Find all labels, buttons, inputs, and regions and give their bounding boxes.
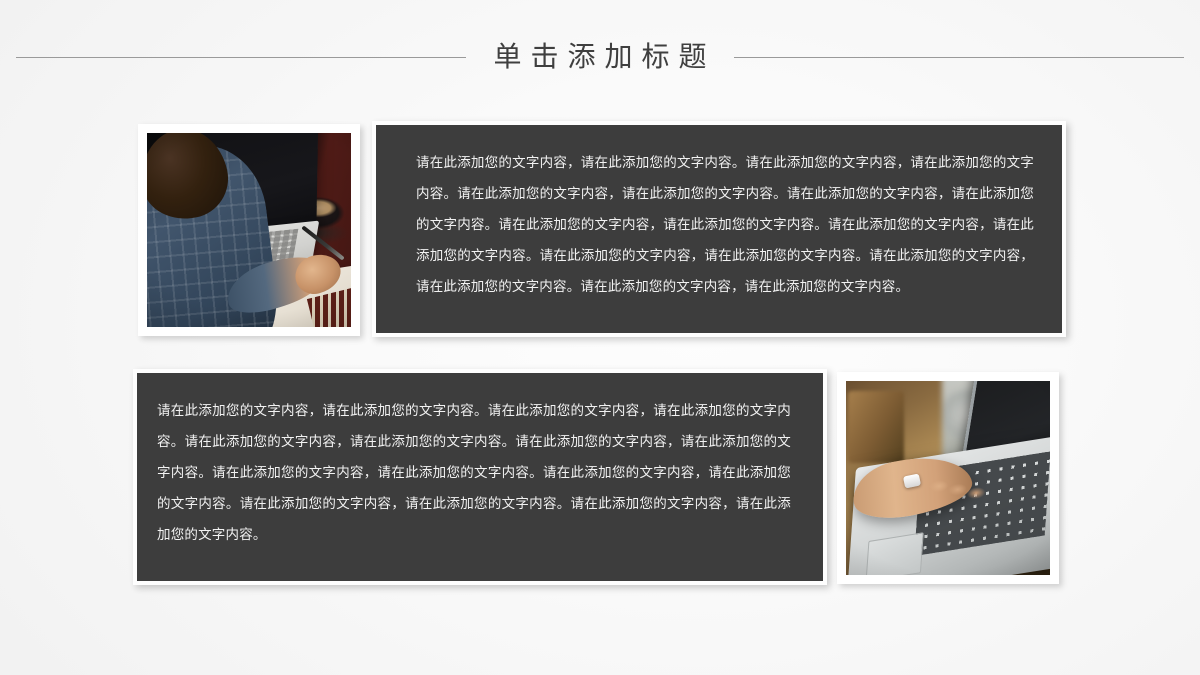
photo-vignette <box>846 381 1050 575</box>
photo-frame-top[interactable] <box>138 124 360 336</box>
page-title[interactable]: 单击添加标题 <box>484 37 715 77</box>
image-hands-typing-on-laptop-keyboard <box>846 381 1050 575</box>
text-panel-bottom-body[interactable]: 请在此添加您的文字内容，请在此添加您的文字内容。请在此添加您的文字内容，请在此添… <box>137 373 823 550</box>
slide-title-bar: 单击添加标题 <box>0 34 1200 80</box>
text-panel-bottom[interactable]: 请在此添加您的文字内容，请在此添加您的文字内容。请在此添加您的文字内容，请在此添… <box>133 369 827 585</box>
image-man-writing-notebook-laptop-coffee <box>147 133 351 327</box>
photo-frame-bottom[interactable] <box>837 372 1059 584</box>
slide-canvas: 单击添加标题 请在此添加您的文字内容，请在此添加您的文字内容。请在此添加您的文字… <box>0 0 1200 675</box>
title-rule-right-icon <box>734 57 1184 58</box>
text-panel-top[interactable]: 请在此添加您的文字内容，请在此添加您的文字内容。请在此添加您的文字内容，请在此添… <box>372 121 1066 337</box>
photo-vignette <box>147 133 351 327</box>
text-panel-top-body[interactable]: 请在此添加您的文字内容，请在此添加您的文字内容。请在此添加您的文字内容，请在此添… <box>376 125 1062 302</box>
title-rule-left-icon <box>16 57 466 58</box>
